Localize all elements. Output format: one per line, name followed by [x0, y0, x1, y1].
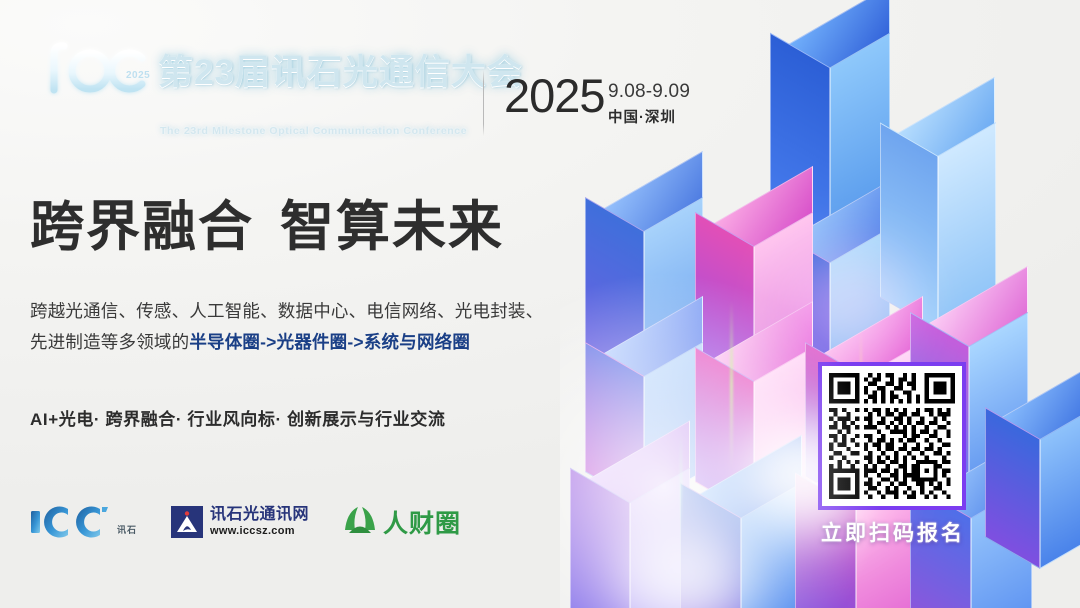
- partner-logo-rcq[interactable]: 人财圈: [343, 504, 461, 541]
- header-divider: [483, 70, 484, 136]
- partner-logo-iccsz[interactable]: 讯石光通讯网 www.iccsz.com: [171, 506, 309, 538]
- rcq-logo-icon: [343, 504, 377, 541]
- description-arrow-2: ->: [347, 332, 363, 352]
- description-arrow-1: ->: [260, 332, 276, 352]
- partner-logos: 讯石 讯石光通讯网 www.iccsz.com: [30, 498, 461, 546]
- partner-logo-icc[interactable]: 讯石: [30, 505, 137, 539]
- iccsz-logo-icon: [171, 506, 203, 538]
- iccsz-logo-text: 讯石光通讯网 www.iccsz.com: [210, 507, 309, 537]
- conference-dates: 9.08-9.09: [608, 80, 690, 104]
- conference-title-cn: 第23届讯石光通信大会: [158, 44, 523, 95]
- conference-title-en: The 23rd Milestone Optical Communication…: [160, 125, 467, 137]
- qr-code[interactable]: [818, 362, 966, 510]
- ifoc-logo-icon: 2025: [30, 34, 162, 98]
- rcq-name: 人财圈: [383, 504, 461, 540]
- description-link-system-network: 系统与网络圈: [364, 332, 470, 352]
- tagline: AI+光电· 跨界融合· 行业风向标· 创新展示与行业交流: [30, 405, 445, 430]
- headline-right: 智算未来: [280, 197, 504, 257]
- qr-code-image: [829, 373, 955, 499]
- icc-logo-sub: 讯石: [117, 523, 137, 539]
- conference-year: 2025: [504, 72, 605, 119]
- icc-logo-icon: [30, 505, 112, 539]
- ifoc-logo: 2025: [30, 34, 160, 96]
- svg-text:2025: 2025: [126, 70, 150, 81]
- description-link-semiconductor: 半导体圈: [189, 332, 260, 352]
- iccsz-url: www.iccsz.com: [210, 526, 309, 537]
- description-text: 跨越光通信、传感、人工智能、数据中心、电信网络、光电封装、先进制造等多领域的半导…: [30, 296, 550, 357]
- conference-location: 中国·深圳: [608, 106, 676, 127]
- iccsz-name: 讯石光通讯网: [210, 507, 309, 523]
- qr-code-label: 立即扫码报名: [818, 517, 968, 547]
- headline-left: 跨界融合: [30, 197, 254, 257]
- page-title: 跨界融合智算未来: [30, 200, 504, 254]
- description-link-optical-device: 光器件圈: [277, 332, 348, 352]
- poster-root: 2025 第23届讯石光通信大会 The 23rd Milestone Opti…: [0, 0, 1080, 608]
- poster-header: 2025 第23届讯石光通信大会 The 23rd Milestone Opti…: [0, 28, 760, 118]
